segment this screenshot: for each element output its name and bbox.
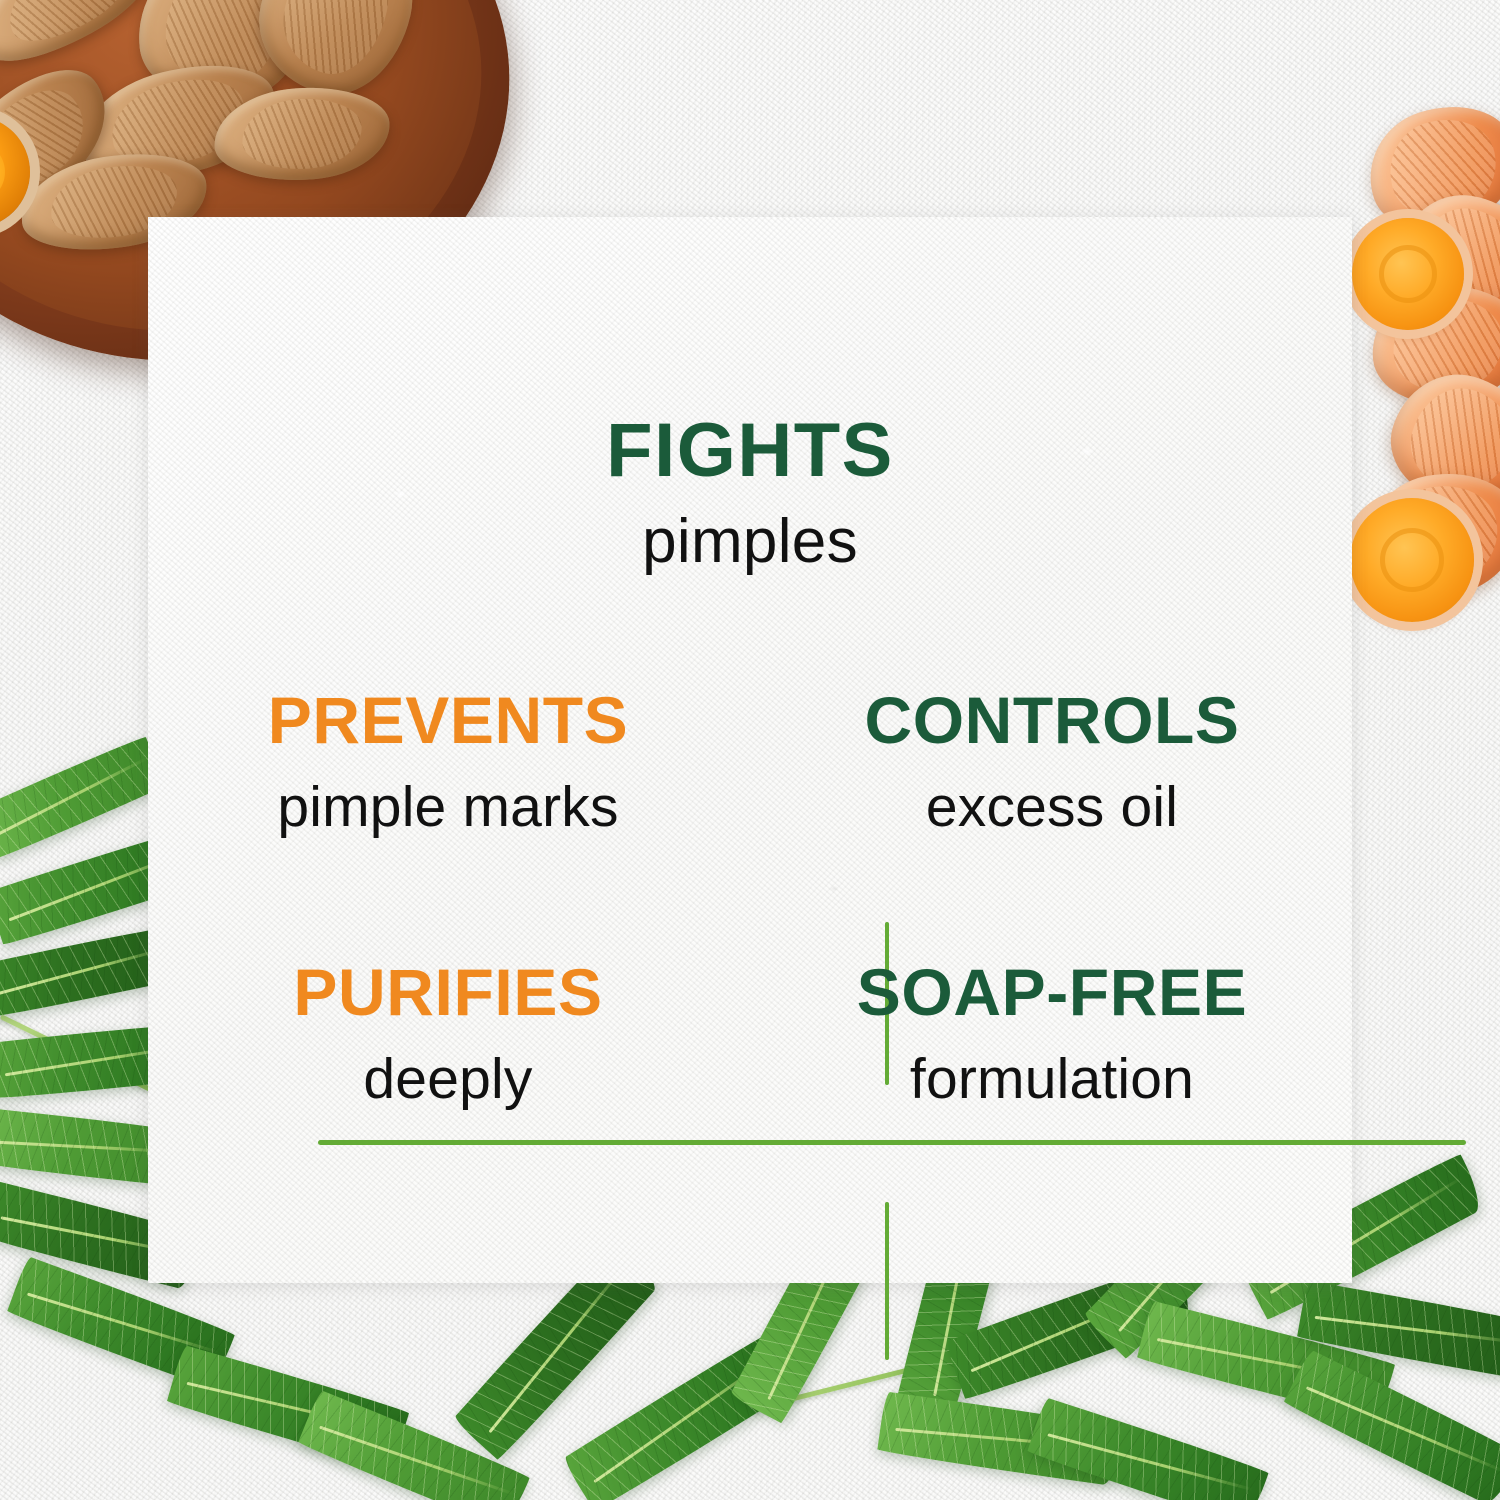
benefit-kicker: CONTROLS bbox=[774, 687, 1330, 753]
benefits-grid: PREVENTS pimple marks CONTROLS excess oi… bbox=[170, 687, 1330, 1187]
benefit-subtext: formulation bbox=[774, 1051, 1330, 1108]
benefit-cell-soap-free: SOAP-FREE formulation bbox=[774, 959, 1330, 1187]
benefit-kicker: PREVENTS bbox=[170, 687, 726, 753]
infographic-canvas: FIGHTS pimples PREVENTS pimple marks CON… bbox=[0, 0, 1500, 1500]
benefit-kicker: PURIFIES bbox=[170, 959, 726, 1025]
benefit-subtext: excess oil bbox=[774, 779, 1330, 836]
benefit-cell-purifies: PURIFIES deeply bbox=[170, 959, 726, 1187]
benefit-subtext: pimple marks bbox=[170, 779, 726, 836]
benefit-cell-prevents: PREVENTS pimple marks bbox=[170, 687, 726, 915]
benefit-kicker: SOAP-FREE bbox=[774, 959, 1330, 1025]
benefit-cell-controls: CONTROLS excess oil bbox=[774, 687, 1330, 915]
hero-benefit: FIGHTS pimples bbox=[148, 413, 1352, 573]
benefits-card: FIGHTS pimples PREVENTS pimple marks CON… bbox=[148, 217, 1352, 1283]
benefit-subtext: deeply bbox=[170, 1051, 726, 1108]
hero-kicker: FIGHTS bbox=[148, 413, 1352, 489]
vertical-divider-bottom bbox=[885, 1202, 889, 1360]
hero-subtext: pimples bbox=[148, 511, 1352, 573]
